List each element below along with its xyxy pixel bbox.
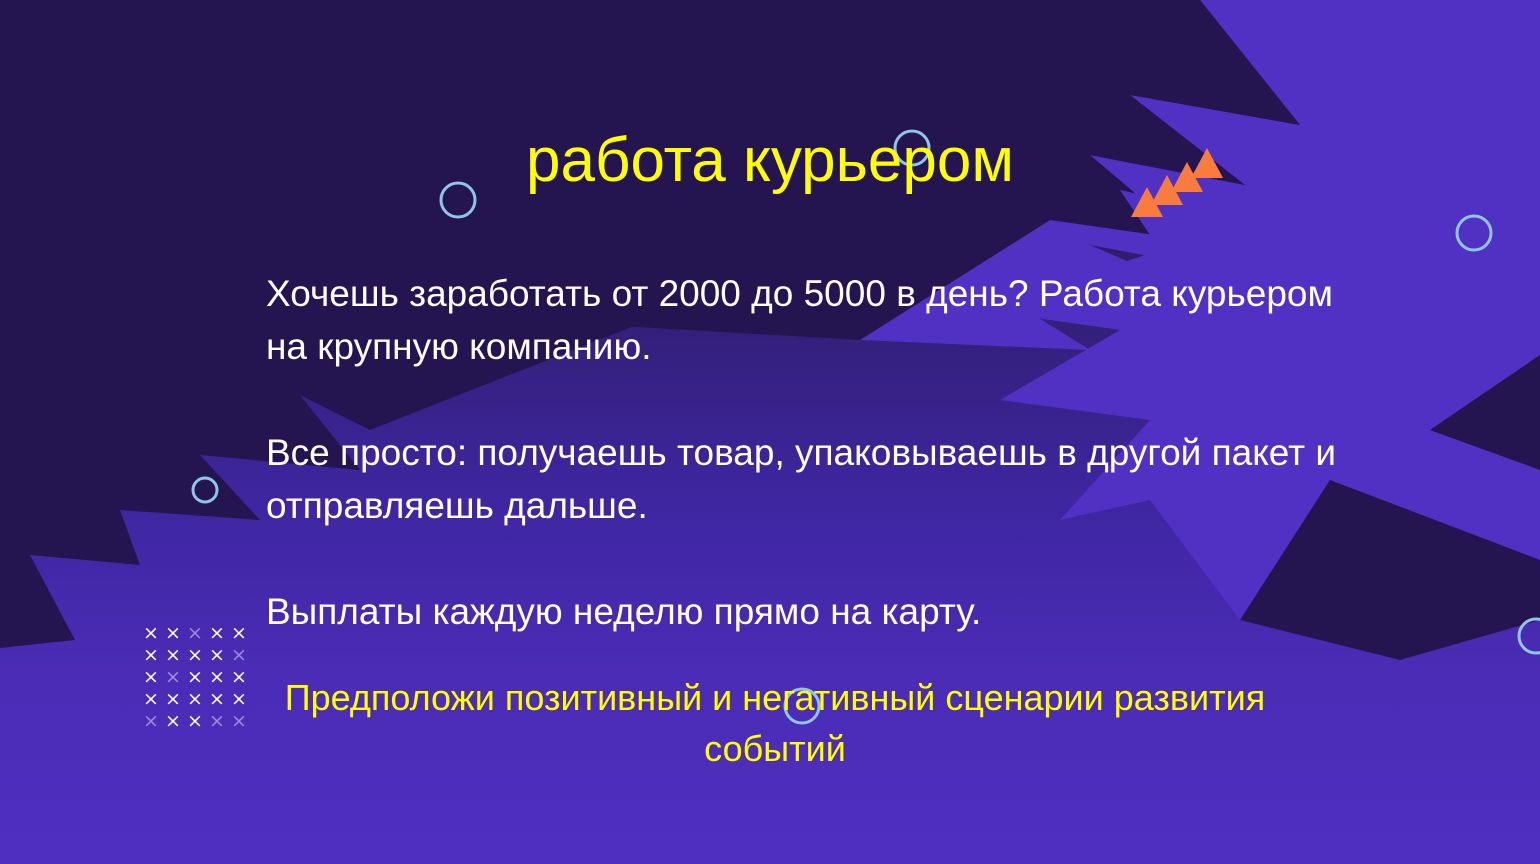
body-paragraph-1: Хочешь заработать от 2000 до 5000 в день…	[266, 268, 1376, 373]
circle-right-lower	[1519, 619, 1540, 653]
x-mark: ×	[206, 622, 228, 644]
x-mark: ×	[228, 688, 250, 710]
x-mark: ×	[184, 710, 206, 732]
presentation-slide: ××××××××××××××××××××××××× работа курьеро…	[0, 0, 1540, 864]
body-paragraph-2: Все просто: получаешь товар, упаковываеш…	[266, 427, 1376, 532]
x-mark: ×	[140, 666, 162, 688]
body-paragraph-3: Выплаты каждую неделю прямо на карту.	[266, 586, 1376, 639]
slide-body: Хочешь заработать от 2000 до 5000 в день…	[266, 268, 1376, 639]
x-dot-pattern: ×××××××××××××××××××××××××	[140, 622, 250, 732]
x-mark: ×	[184, 644, 206, 666]
slide-title: работа курьером	[0, 128, 1540, 193]
circle-right-upper	[1457, 216, 1491, 250]
x-mark: ×	[228, 710, 250, 732]
x-mark: ×	[184, 666, 206, 688]
x-mark: ×	[228, 666, 250, 688]
x-mark: ×	[162, 710, 184, 732]
x-mark: ×	[162, 688, 184, 710]
x-mark: ×	[162, 622, 184, 644]
x-mark: ×	[162, 666, 184, 688]
x-mark: ×	[140, 710, 162, 732]
x-mark: ×	[184, 622, 206, 644]
x-mark: ×	[162, 644, 184, 666]
x-mark: ×	[206, 688, 228, 710]
x-mark: ×	[206, 710, 228, 732]
x-mark: ×	[140, 622, 162, 644]
x-mark: ×	[140, 688, 162, 710]
x-mark: ×	[228, 622, 250, 644]
x-mark: ×	[206, 644, 228, 666]
x-mark: ×	[228, 644, 250, 666]
x-mark: ×	[206, 666, 228, 688]
task-prompt: Предположи позитивный и негативный сцена…	[270, 672, 1280, 774]
circle-left-middle	[193, 478, 217, 502]
x-mark: ×	[140, 644, 162, 666]
x-mark: ×	[184, 688, 206, 710]
